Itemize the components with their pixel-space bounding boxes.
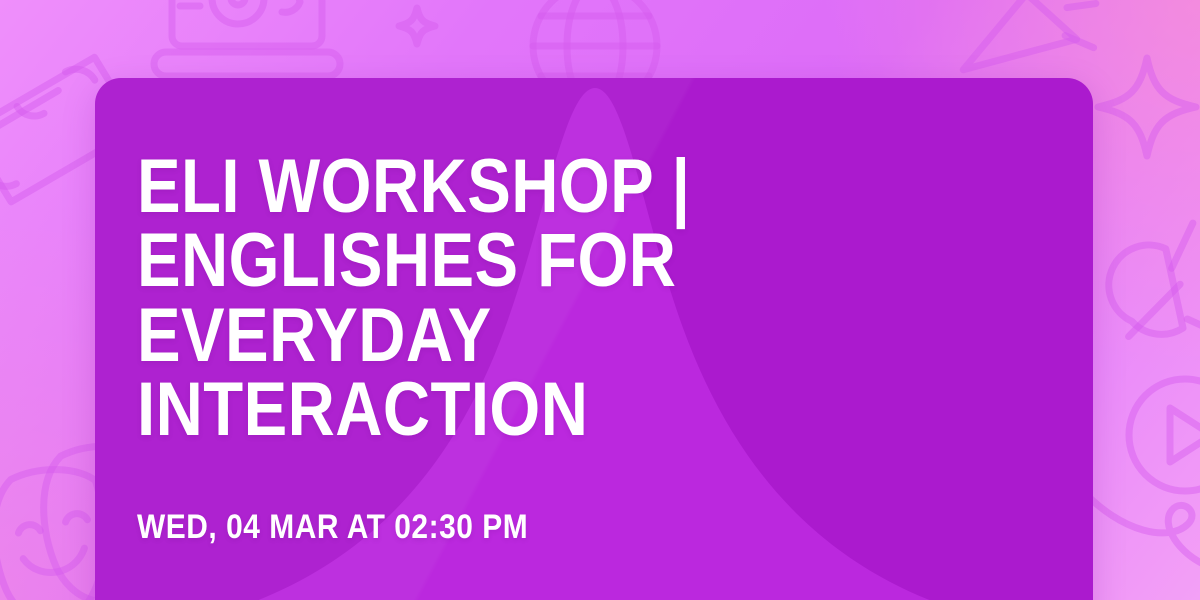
card-content: ELI WORKSHOP | ENGLISHES FOR EVERYDAY IN… [95,78,1093,544]
event-card[interactable]: ELI WORKSHOP | ENGLISHES FOR EVERYDAY IN… [95,78,1093,600]
event-title: ELI WORKSHOP | ENGLISHES FOR EVERYDAY IN… [137,150,911,448]
event-date-time: WED, 04 MAR AT 02:30 PM [137,510,929,544]
event-banner: ELI WORKSHOP | ENGLISHES FOR EVERYDAY IN… [0,0,1200,600]
